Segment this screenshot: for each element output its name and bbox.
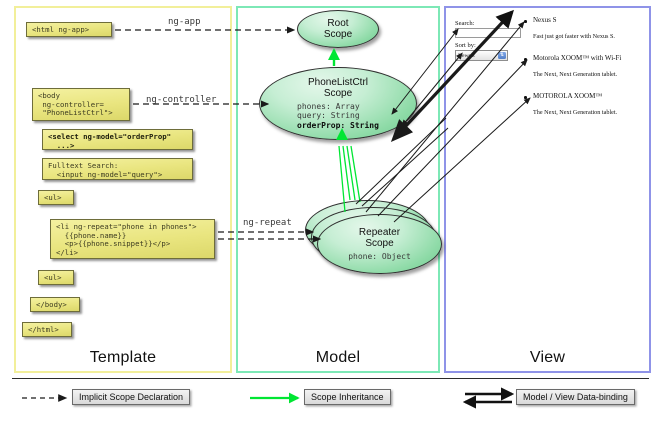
view-search-label: Search: [455,20,475,27]
edge-label-ng-controller: ng-controller [146,95,216,105]
legend-item-implicit-scope-declaration: Implicit Scope Declaration [72,389,190,405]
panel-model: Model [236,6,440,373]
scope-repeater-props: phone: Object [348,252,411,261]
legend-divider [12,378,649,379]
scope-phonelistctrl-title: PhoneListCtrlScope [308,77,368,100]
panel-model-label: Model [238,349,438,367]
view-bullet-2 [524,96,527,99]
view-phone-snippet-1: The Next, Next Generation tablet. [533,71,617,78]
panel-template-label: Template [16,349,230,367]
scope-phonelistctrl-props: phones: Array query: String orderProp: S… [297,102,379,130]
scope-root-title: RootScope [324,18,352,41]
chevron-updown-icon: ⇅ [498,52,506,59]
view-sort-label: Sort by: [455,42,476,49]
code-box-body-close: </body> [30,297,80,312]
view-phone-name-2: MOTOROLA XOOM™ [533,92,602,100]
edge-label-ng-repeat: ng-repeat [243,218,292,228]
legend-item-scope-inheritance: Scope Inheritance [304,389,391,405]
angularjs-scope-diagram: Template Model View <html ng-app> <body … [0,0,661,425]
code-box-body-tag: <body ng-controller= "PhoneListCtrl"> [32,88,130,121]
view-phone-name-1: Motorola XOOM™ with Wi-Fi [533,54,621,62]
view-bullet-1 [524,58,527,61]
view-phone-snippet-2: The Next, Next Generation tablet. [533,109,617,116]
legend-item-model-view-data-binding: Model / View Data-binding [516,389,635,405]
scope-repeater-title: RepeaterScope [359,227,400,250]
view-phone-snippet-0: Fast just got faster with Nexus S. [533,33,615,40]
scope-repeater: RepeaterScope phone: Object [317,214,442,274]
panel-view-label: View [446,349,649,367]
view-sort-select-value: Newest [458,53,475,59]
view-phone-name-0: Nexus S [533,16,557,24]
code-box-fulltext-search: Fulltext Search: <input ng-model="query"… [42,158,193,180]
legend-double-arrow-glyph [465,394,512,402]
scope-root: RootScope [297,10,379,48]
view-search-input[interactable] [455,28,521,38]
code-box-html-close: </html> [22,322,72,337]
edge-label-ng-app: ng-app [168,17,201,27]
code-box-html-tag: <html ng-app> [26,22,112,37]
code-box-ul-close: <ul> [38,270,74,285]
view-bullet-0 [524,20,527,23]
code-box-select-tag: <select ng-model="orderProp" ...> [42,129,193,150]
scope-phonelistctrl: PhoneListCtrlScope phones: Array query: … [259,67,417,140]
code-box-li-ng-repeat: <li ng-repeat="phone in phones"> {{phone… [50,219,215,259]
code-box-ul-open: <ul> [38,190,74,205]
view-sort-select[interactable]: Newest ⇅ [455,50,508,61]
